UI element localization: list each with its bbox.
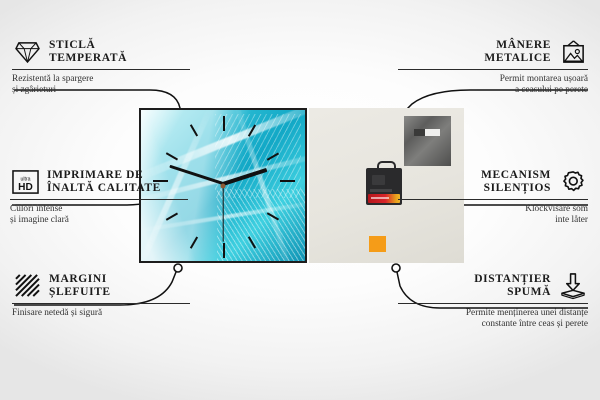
feature-header: MARGINIȘLEFUITE [12,272,202,303]
feature-title: MARGINIȘLEFUITE [49,273,111,300]
feature-subtitle: Finisare netedă și sigură [12,304,202,319]
feature-print: ultra HD IMPRIMARE DEÎNALTĂ CALITATE Cul… [10,168,200,227]
svg-text:HD: HD [18,182,33,193]
hour-tick [223,243,225,258]
ultra-hd-icon: ultra HD [10,168,40,196]
feature-header: ultra HD IMPRIMARE DEÎNALTĂ CALITATE [10,168,200,199]
foam-spacer [369,236,386,252]
diamond-icon [12,38,42,66]
feature-subtitle: Rezistentă la spargereși zgârieturi [12,70,202,97]
hour-tick [223,116,225,131]
feature-title: MECANISMSILENȚIOS [481,169,551,196]
feature-title: DISTANȚIERSPUMĂ [474,273,551,300]
hour-tick [280,180,295,182]
hands-pivot [221,183,226,188]
polished-edge-stripes-icon [12,272,42,300]
metal-hanger-bracket [404,116,451,166]
foam-spacer-shadow [372,239,389,255]
feature-edges: MARGINIȘLEFUITE Finisare netedă și sigur… [12,272,202,319]
feature-subtitle: Permite menținerea unei distanțeconstant… [398,304,588,331]
movement-knob [372,175,385,185]
feature-title: MÂNEREMETALICE [484,39,551,66]
hanging-picture-frame-icon [558,38,588,66]
infographic-canvas: STICLĂTEMPERATĂ Rezistentă la spargereși… [0,0,600,400]
feature-header: STICLĂTEMPERATĂ [12,38,202,69]
hour-tick [190,236,198,248]
feature-glass: STICLĂTEMPERATĂ Rezistentă la spargereși… [12,38,202,97]
feature-spacer: DISTANȚIERSPUMĂ Permite menținerea unei … [398,272,588,331]
feature-title: IMPRIMARE DEÎNALTĂ CALITATE [47,169,161,196]
battery-label [371,197,389,199]
feature-subtitle: Klockvisare sominte låter [398,200,588,227]
movement-bail [377,161,396,172]
feature-header: DISTANȚIERSPUMĂ [398,272,588,303]
feather-barbs [217,189,307,263]
foam-spacer-down-arrow-icon [558,272,588,300]
feature-header: MÂNEREMETALICE [398,38,588,69]
movement-slot [370,189,392,192]
feature-subtitle: Permit montarea ușoarăa ceasului pe pere… [398,70,588,97]
clock-movement [366,168,402,205]
feature-hangers: MÂNEREMETALICE Permit montarea ușoarăa c… [398,38,588,97]
feather-barbs [215,114,301,198]
battery [368,194,400,203]
feature-subtitle: Culori intenseși imagine clară [10,200,200,227]
gear-icon [558,168,588,196]
feature-title: STICLĂTEMPERATĂ [49,39,127,66]
feature-header: MECANISMSILENȚIOS [398,168,588,199]
second-hand [222,184,223,242]
hanger-slot [414,129,440,136]
feature-mechanism: MECANISMSILENȚIOS Klockvisare sominte lå… [398,168,588,227]
